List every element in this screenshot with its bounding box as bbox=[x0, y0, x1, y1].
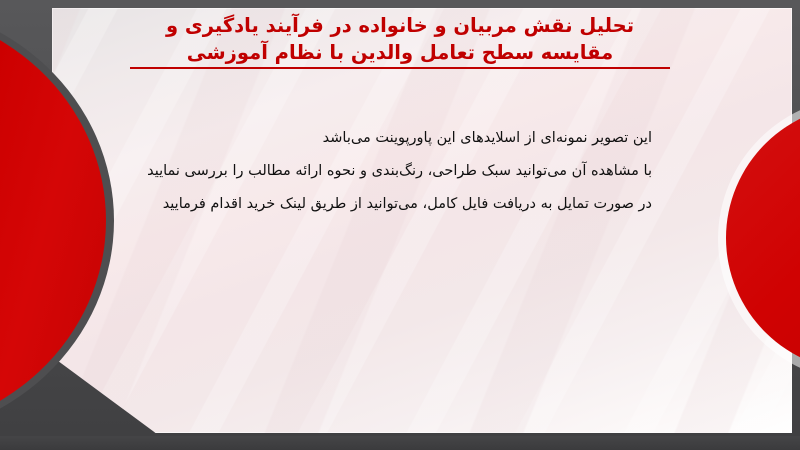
body-line-1: این تصویر نمونه‌ای از اسلایدهای این پاور… bbox=[132, 122, 652, 155]
title-line-2: مقایسه سطح تعامل والدین با نظام آموزشی bbox=[110, 39, 690, 66]
body-line-3: در صورت تمایل به دریافت فایل کامل، می‌تو… bbox=[132, 188, 652, 221]
slide-body-text: این تصویر نمونه‌ای از اسلایدهای این پاور… bbox=[132, 122, 652, 221]
title-underline bbox=[130, 67, 670, 69]
title-line-1: تحلیل نقش مربیان و خانواده در فرآیند یاد… bbox=[110, 12, 690, 39]
slide-title: تحلیل نقش مربیان و خانواده در فرآیند یاد… bbox=[110, 12, 690, 69]
body-line-2: با مشاهده آن می‌توانید سبک طراحی، رنگ‌بن… bbox=[132, 155, 652, 188]
bottom-frame-band bbox=[0, 436, 800, 450]
presentation-slide: تحلیل نقش مربیان و خانواده در فرآیند یاد… bbox=[0, 0, 800, 450]
